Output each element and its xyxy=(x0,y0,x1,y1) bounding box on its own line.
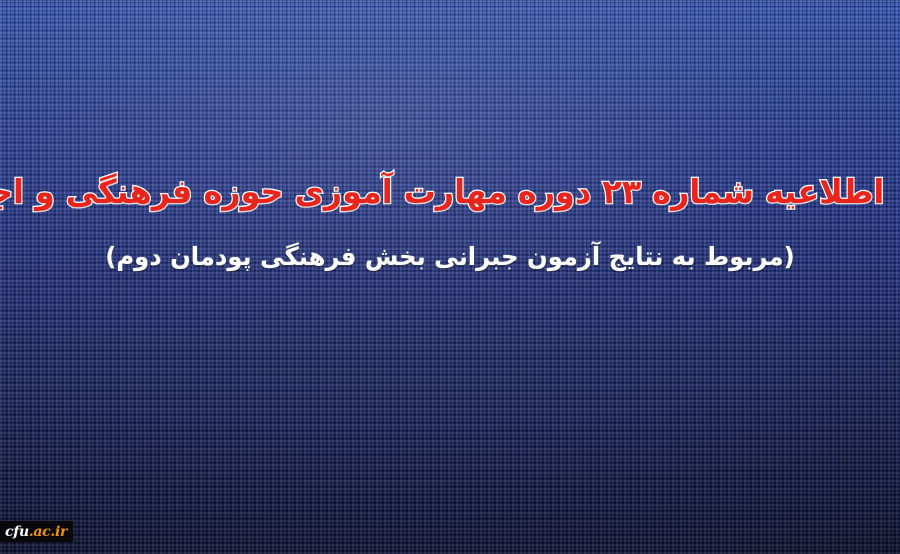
watermark-site-tld: .ac.ir xyxy=(29,525,67,539)
background-fabric-mottle xyxy=(0,0,900,554)
announcement-headline: اطلاعیه شماره ۲۳ دوره مهارت آموزی حوزه ف… xyxy=(16,168,885,216)
headline-block: اطلاعیه شماره ۲۳ دوره مهارت آموزی حوزه ف… xyxy=(0,168,900,276)
background-vignette xyxy=(0,0,900,554)
site-watermark: cfu.ac.ir xyxy=(0,521,73,542)
watermark-site-name: cfu xyxy=(5,525,29,539)
background-weave-texture-shadow xyxy=(0,0,900,554)
announcement-subheadline: (مربوط به نتایج آزمون جبرانی بخش فرهنگی … xyxy=(14,238,887,276)
announcement-banner: اطلاعیه شماره ۲۳ دوره مهارت آموزی حوزه ف… xyxy=(0,0,900,554)
background-weave-texture-highlight xyxy=(0,0,900,554)
